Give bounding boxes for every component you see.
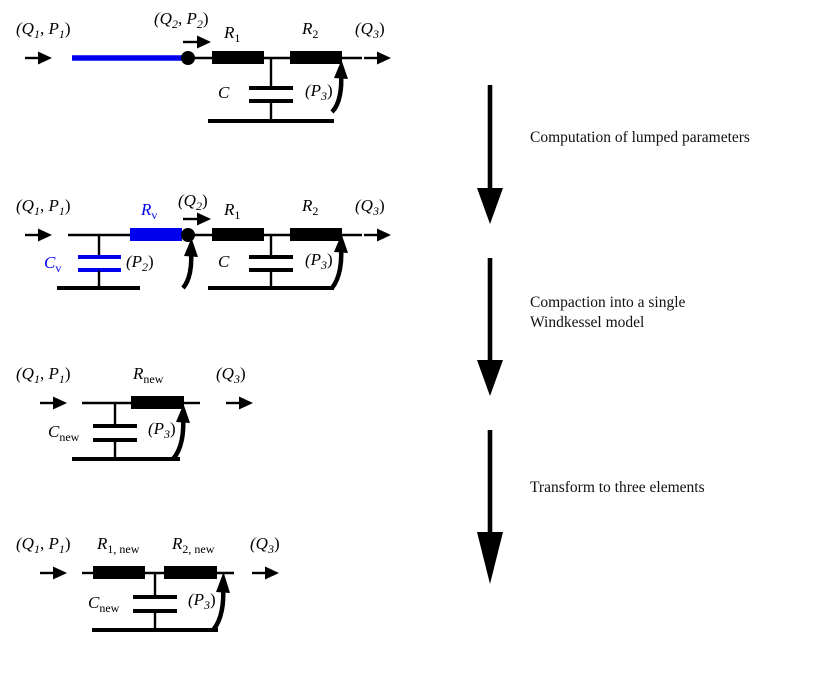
mid-flow-arrow-icon — [183, 213, 211, 226]
label-Rnew: Rnew — [132, 364, 164, 386]
label-C: C — [218, 83, 230, 102]
label-P3: (P3) — [148, 419, 176, 441]
step-2-line-2: Windkessel model — [530, 313, 820, 333]
label-inlet-Q1P1: (Q1, P1) — [16, 196, 71, 218]
label-Q2: (Q2) — [178, 191, 208, 213]
down-arrow-1 — [477, 85, 503, 224]
label-P3: (P3) — [305, 81, 333, 103]
label-inlet-Q1P1: (Q1, P1) — [16, 364, 71, 386]
resistor-R2 — [290, 228, 342, 241]
inlet-flow-arrow-icon — [25, 229, 52, 242]
label-R2: R2 — [301, 19, 318, 41]
circuit-4: (Q1, P1) R1, new R2, new Cnew (P3) (Q3) — [16, 534, 280, 630]
resistor-R2new — [164, 566, 217, 579]
label-R1: R1 — [223, 23, 240, 45]
label-outlet-Q3: (Q3) — [355, 19, 385, 41]
label-Cv: Cv — [44, 253, 61, 275]
label-Cnew: Cnew — [88, 593, 120, 615]
pressure-arrow-P3-icon — [332, 234, 348, 288]
label-P2: (P2) — [126, 252, 154, 274]
circuit-reduction-svg: (Q1, P1) (Q2, P2) R1 R2 C (P3) (Q3) — [0, 0, 830, 692]
resistor-Rnew — [131, 396, 184, 409]
figure-canvas: (Q1, P1) (Q2, P2) R1 R2 C (P3) (Q3) — [0, 0, 830, 692]
outlet-flow-arrow-icon — [364, 52, 391, 65]
step-1-text: Computation of lumped parameters — [530, 128, 820, 148]
circuit-3: (Q1, P1) Rnew Cnew (P3) (Q3) — [16, 364, 253, 459]
outlet-flow-arrow-icon — [226, 397, 253, 410]
inlet-flow-arrow-icon — [40, 567, 67, 580]
resistor-R2 — [290, 51, 342, 64]
label-Cnew: Cnew — [48, 422, 80, 444]
step-3-line-1: Transform to three elements — [530, 478, 820, 498]
down-arrow-3 — [477, 430, 503, 584]
mid-flow-arrow-icon — [183, 36, 211, 49]
label-R2: R2 — [301, 196, 318, 218]
resistor-R1 — [212, 51, 264, 64]
inlet-flow-arrow-icon — [40, 397, 67, 410]
node-dot — [181, 51, 195, 65]
step-3-text: Transform to three elements — [530, 478, 820, 498]
inlet-flow-arrow-icon — [25, 52, 52, 65]
label-R1new: R1, new — [96, 534, 140, 556]
label-inlet-Q1P1: (Q1, P1) — [16, 19, 71, 41]
step-2-text: Compaction into a single Windkessel mode… — [530, 293, 820, 333]
label-R1: R1 — [223, 200, 240, 222]
node-dot — [181, 228, 195, 242]
pressure-arrow-P3-icon — [332, 60, 348, 112]
outlet-flow-arrow-icon — [364, 229, 391, 242]
label-mid-Q2P2: (Q2, P2) — [154, 9, 209, 31]
label-outlet-Q3: (Q3) — [216, 364, 246, 386]
pressure-arrow-P2-icon — [183, 238, 198, 288]
label-inlet-Q1P1: (Q1, P1) — [16, 534, 71, 556]
label-P3: (P3) — [188, 590, 216, 612]
outlet-flow-arrow-icon — [252, 567, 279, 580]
circuit-2: (Q1, P1) Rv Cv (Q2) (P2) R1 R2 C (P3) (Q… — [16, 191, 391, 288]
step-2-line-1: Compaction into a single — [530, 293, 820, 313]
label-Rv: Rv — [140, 200, 157, 222]
circuit-1: (Q1, P1) (Q2, P2) R1 R2 C (P3) (Q3) — [16, 9, 391, 121]
resistor-Rv — [130, 228, 182, 241]
resistor-R1new — [93, 566, 145, 579]
label-outlet-Q3: (Q3) — [355, 196, 385, 218]
label-C: C — [218, 252, 230, 271]
resistor-R1 — [212, 228, 264, 241]
down-arrow-2 — [477, 258, 503, 396]
step-1-line-1: Computation of lumped parameters — [530, 128, 820, 148]
label-R2new: R2, new — [171, 534, 215, 556]
label-outlet-Q3: (Q3) — [250, 534, 280, 556]
label-P3: (P3) — [305, 250, 333, 272]
